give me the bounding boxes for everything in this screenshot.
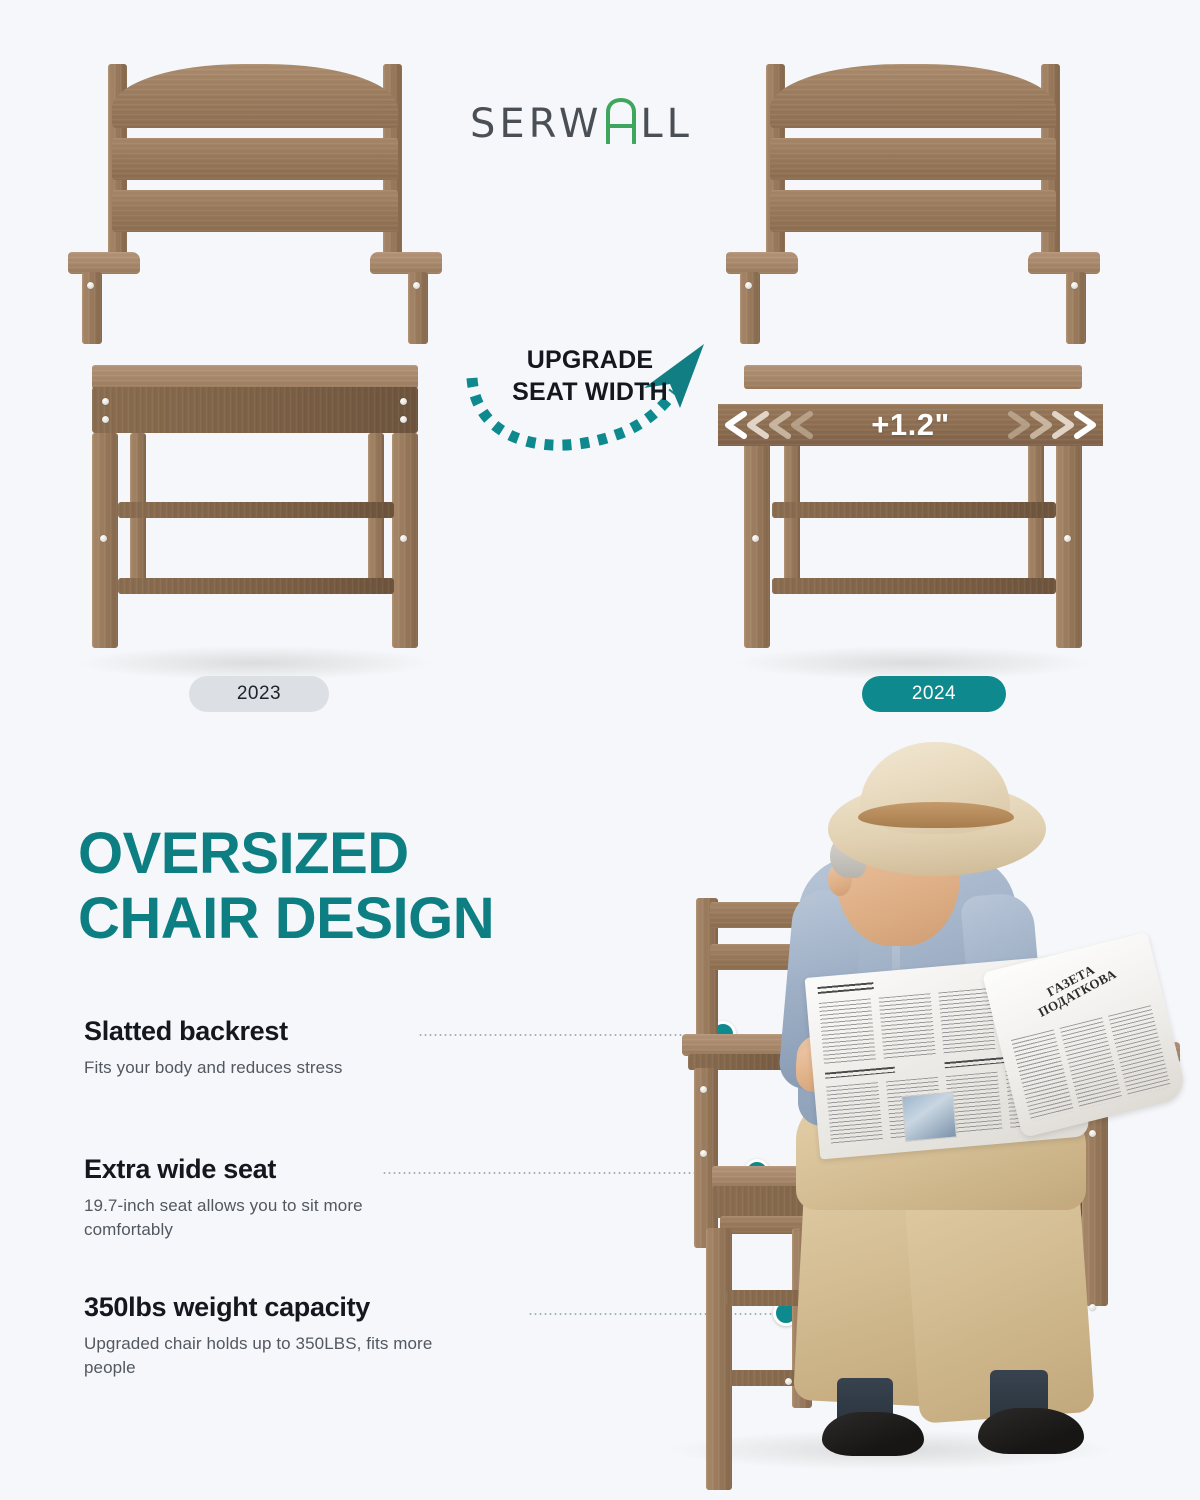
chevron-right-icon xyxy=(1003,410,1099,440)
feature-description: 19.7-inch seat allows you to sit more co… xyxy=(84,1194,454,1242)
upgrade-callout-text: UPGRADE SEAT WIDTH xyxy=(490,344,690,408)
page-title: OVERSIZED CHAIR DESIGN xyxy=(78,822,638,952)
headline-line-1: OVERSIZED xyxy=(78,822,638,887)
badge-year-2024: 2024 xyxy=(862,676,1006,712)
chevron-left-icon xyxy=(722,410,818,440)
feature-item-capacity: 350lbs weight capacity Upgraded chair ho… xyxy=(84,1292,604,1380)
upgrade-line-2: SEAT WIDTH xyxy=(490,376,690,408)
product-infographic: SERW LL xyxy=(0,0,1200,1500)
headline-line-2: CHAIR DESIGN xyxy=(78,887,638,952)
feature-item-backrest: Slatted backrest Fits your body and redu… xyxy=(84,1016,554,1080)
seat-width-measure-bar: +1.2" xyxy=(718,404,1103,446)
feature-title: Slatted backrest xyxy=(84,1016,288,1047)
chair-2023-illustration xyxy=(60,50,450,670)
chair-letter-a-icon xyxy=(604,100,638,144)
feature-item-seat: Extra wide seat 19.7-inch seat allows yo… xyxy=(84,1154,554,1242)
feature-title: Extra wide seat xyxy=(84,1154,276,1185)
upgrade-callout: UPGRADE SEAT WIDTH xyxy=(462,336,712,466)
feature-description: Upgraded chair holds up to 350LBS, fits … xyxy=(84,1332,454,1380)
chair-2024-illustration xyxy=(718,50,1108,670)
feature-title: 350lbs weight capacity xyxy=(84,1292,370,1323)
upgrade-line-1: UPGRADE xyxy=(490,344,690,376)
badge-year-2023: 2023 xyxy=(189,676,329,712)
measure-value-label: +1.2" xyxy=(871,407,949,443)
logo-text-after: LL xyxy=(640,104,693,144)
feature-description: Fits your body and reduces stress xyxy=(84,1056,454,1080)
brand-logo: SERW LL xyxy=(470,100,693,144)
lifestyle-photo-man-in-chair: ГАЗЕТА ПОДАТКОВА xyxy=(600,730,1200,1500)
logo-text-before: SERW xyxy=(470,104,602,144)
